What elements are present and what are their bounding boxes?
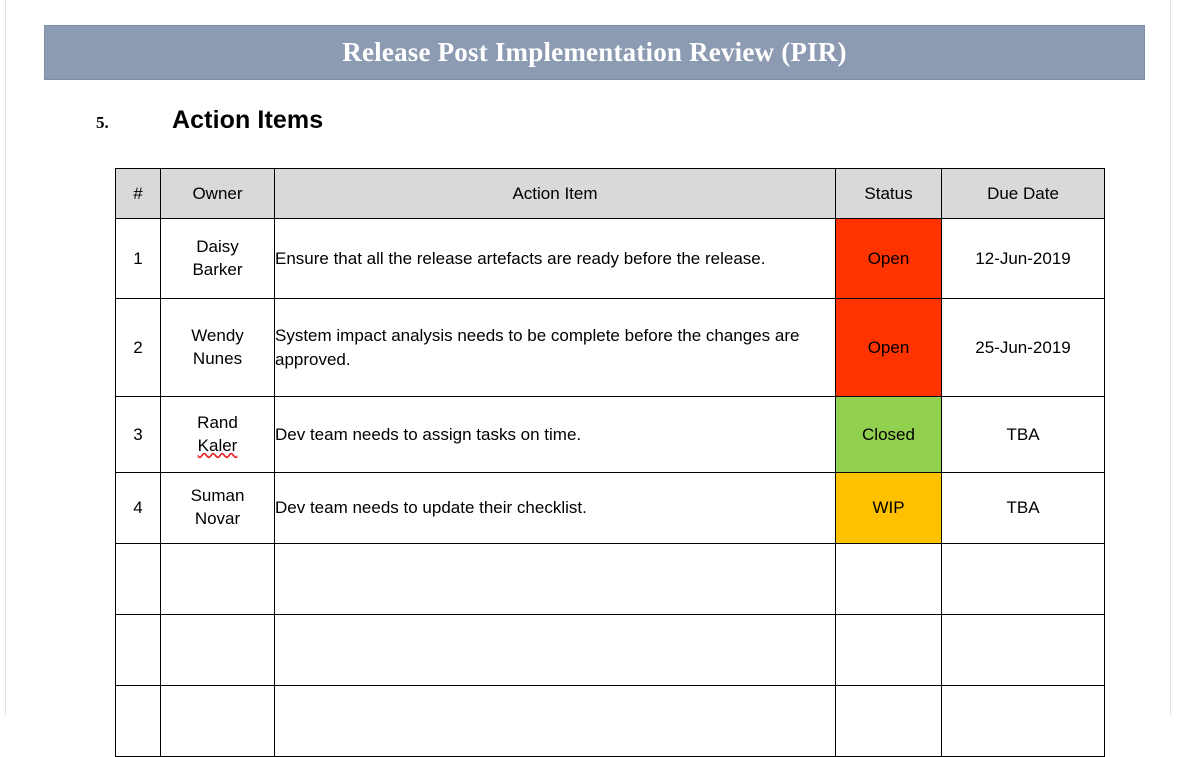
owner-first-name: Daisy (196, 237, 239, 256)
cell-action-item (275, 615, 836, 686)
cell-owner: Rand Kaler (161, 397, 275, 473)
cell-action-item: System impact analysis needs to be compl… (275, 299, 836, 397)
cell-number: 3 (116, 397, 161, 473)
cell-number: 4 (116, 473, 161, 544)
cell-owner: Suman Novar (161, 473, 275, 544)
cell-status (836, 686, 942, 757)
owner-first-name: Suman (191, 486, 245, 505)
column-header-number: # (116, 169, 161, 219)
cell-number (116, 615, 161, 686)
owner-last-name: Nunes (193, 349, 242, 368)
column-header-action-item: Action Item (275, 169, 836, 219)
cell-owner: Daisy Barker (161, 219, 275, 299)
table-header-row: # Owner Action Item Status Due Date (116, 169, 1105, 219)
cell-status (836, 544, 942, 615)
cell-due-date: TBA (942, 397, 1105, 473)
section-title: Action Items (172, 106, 323, 135)
owner-first-name: Rand (197, 413, 238, 432)
cell-due-date: 12-Jun-2019 (942, 219, 1105, 299)
cell-status: Closed (836, 397, 942, 473)
cell-action-item (275, 544, 836, 615)
cell-owner (161, 544, 275, 615)
cell-due-date (942, 615, 1105, 686)
section-number: 5. (96, 113, 172, 133)
cell-status (836, 615, 942, 686)
cell-due-date: TBA (942, 473, 1105, 544)
table-row[interactable]: 3 Rand Kaler Dev team needs to assign ta… (116, 397, 1105, 473)
owner-last-name: Barker (192, 260, 242, 279)
cell-status: Open (836, 219, 942, 299)
cell-due-date (942, 686, 1105, 757)
table-row-empty[interactable] (116, 544, 1105, 615)
table-row[interactable]: 1 Daisy Barker Ensure that all the relea… (116, 219, 1105, 299)
cell-status: WIP (836, 473, 942, 544)
cell-owner: Wendy Nunes (161, 299, 275, 397)
cell-number: 2 (116, 299, 161, 397)
page-boundary-right (1170, 0, 1171, 715)
cell-number (116, 686, 161, 757)
owner-last-name: Novar (195, 509, 240, 528)
page-boundary-left (5, 0, 6, 715)
column-header-status: Status (836, 169, 942, 219)
table-row[interactable]: 2 Wendy Nunes System impact analysis nee… (116, 299, 1105, 397)
cell-due-date (942, 544, 1105, 615)
owner-last-name: Kaler (198, 436, 238, 455)
document-title-banner: Release Post Implementation Review (PIR) (44, 25, 1145, 80)
column-header-due-date: Due Date (942, 169, 1105, 219)
cell-number (116, 544, 161, 615)
cell-due-date: 25-Jun-2019 (942, 299, 1105, 397)
cell-status: Open (836, 299, 942, 397)
column-header-owner: Owner (161, 169, 275, 219)
owner-first-name: Wendy (191, 326, 244, 345)
table-row-empty[interactable] (116, 686, 1105, 757)
cell-number: 1 (116, 219, 161, 299)
cell-action-item: Dev team needs to update their checklist… (275, 473, 836, 544)
section-heading: 5. Action Items (96, 106, 323, 135)
cell-owner (161, 686, 275, 757)
table-row[interactable]: 4 Suman Novar Dev team needs to update t… (116, 473, 1105, 544)
table-row-empty[interactable] (116, 615, 1105, 686)
cell-owner (161, 615, 275, 686)
cell-action-item: Ensure that all the release artefacts ar… (275, 219, 836, 299)
table-body: 1 Daisy Barker Ensure that all the relea… (116, 219, 1105, 757)
cell-action-item: Dev team needs to assign tasks on time. (275, 397, 836, 473)
document-title: Release Post Implementation Review (PIR) (342, 37, 846, 68)
cell-action-item (275, 686, 836, 757)
action-items-table: # Owner Action Item Status Due Date 1 Da… (115, 168, 1105, 757)
